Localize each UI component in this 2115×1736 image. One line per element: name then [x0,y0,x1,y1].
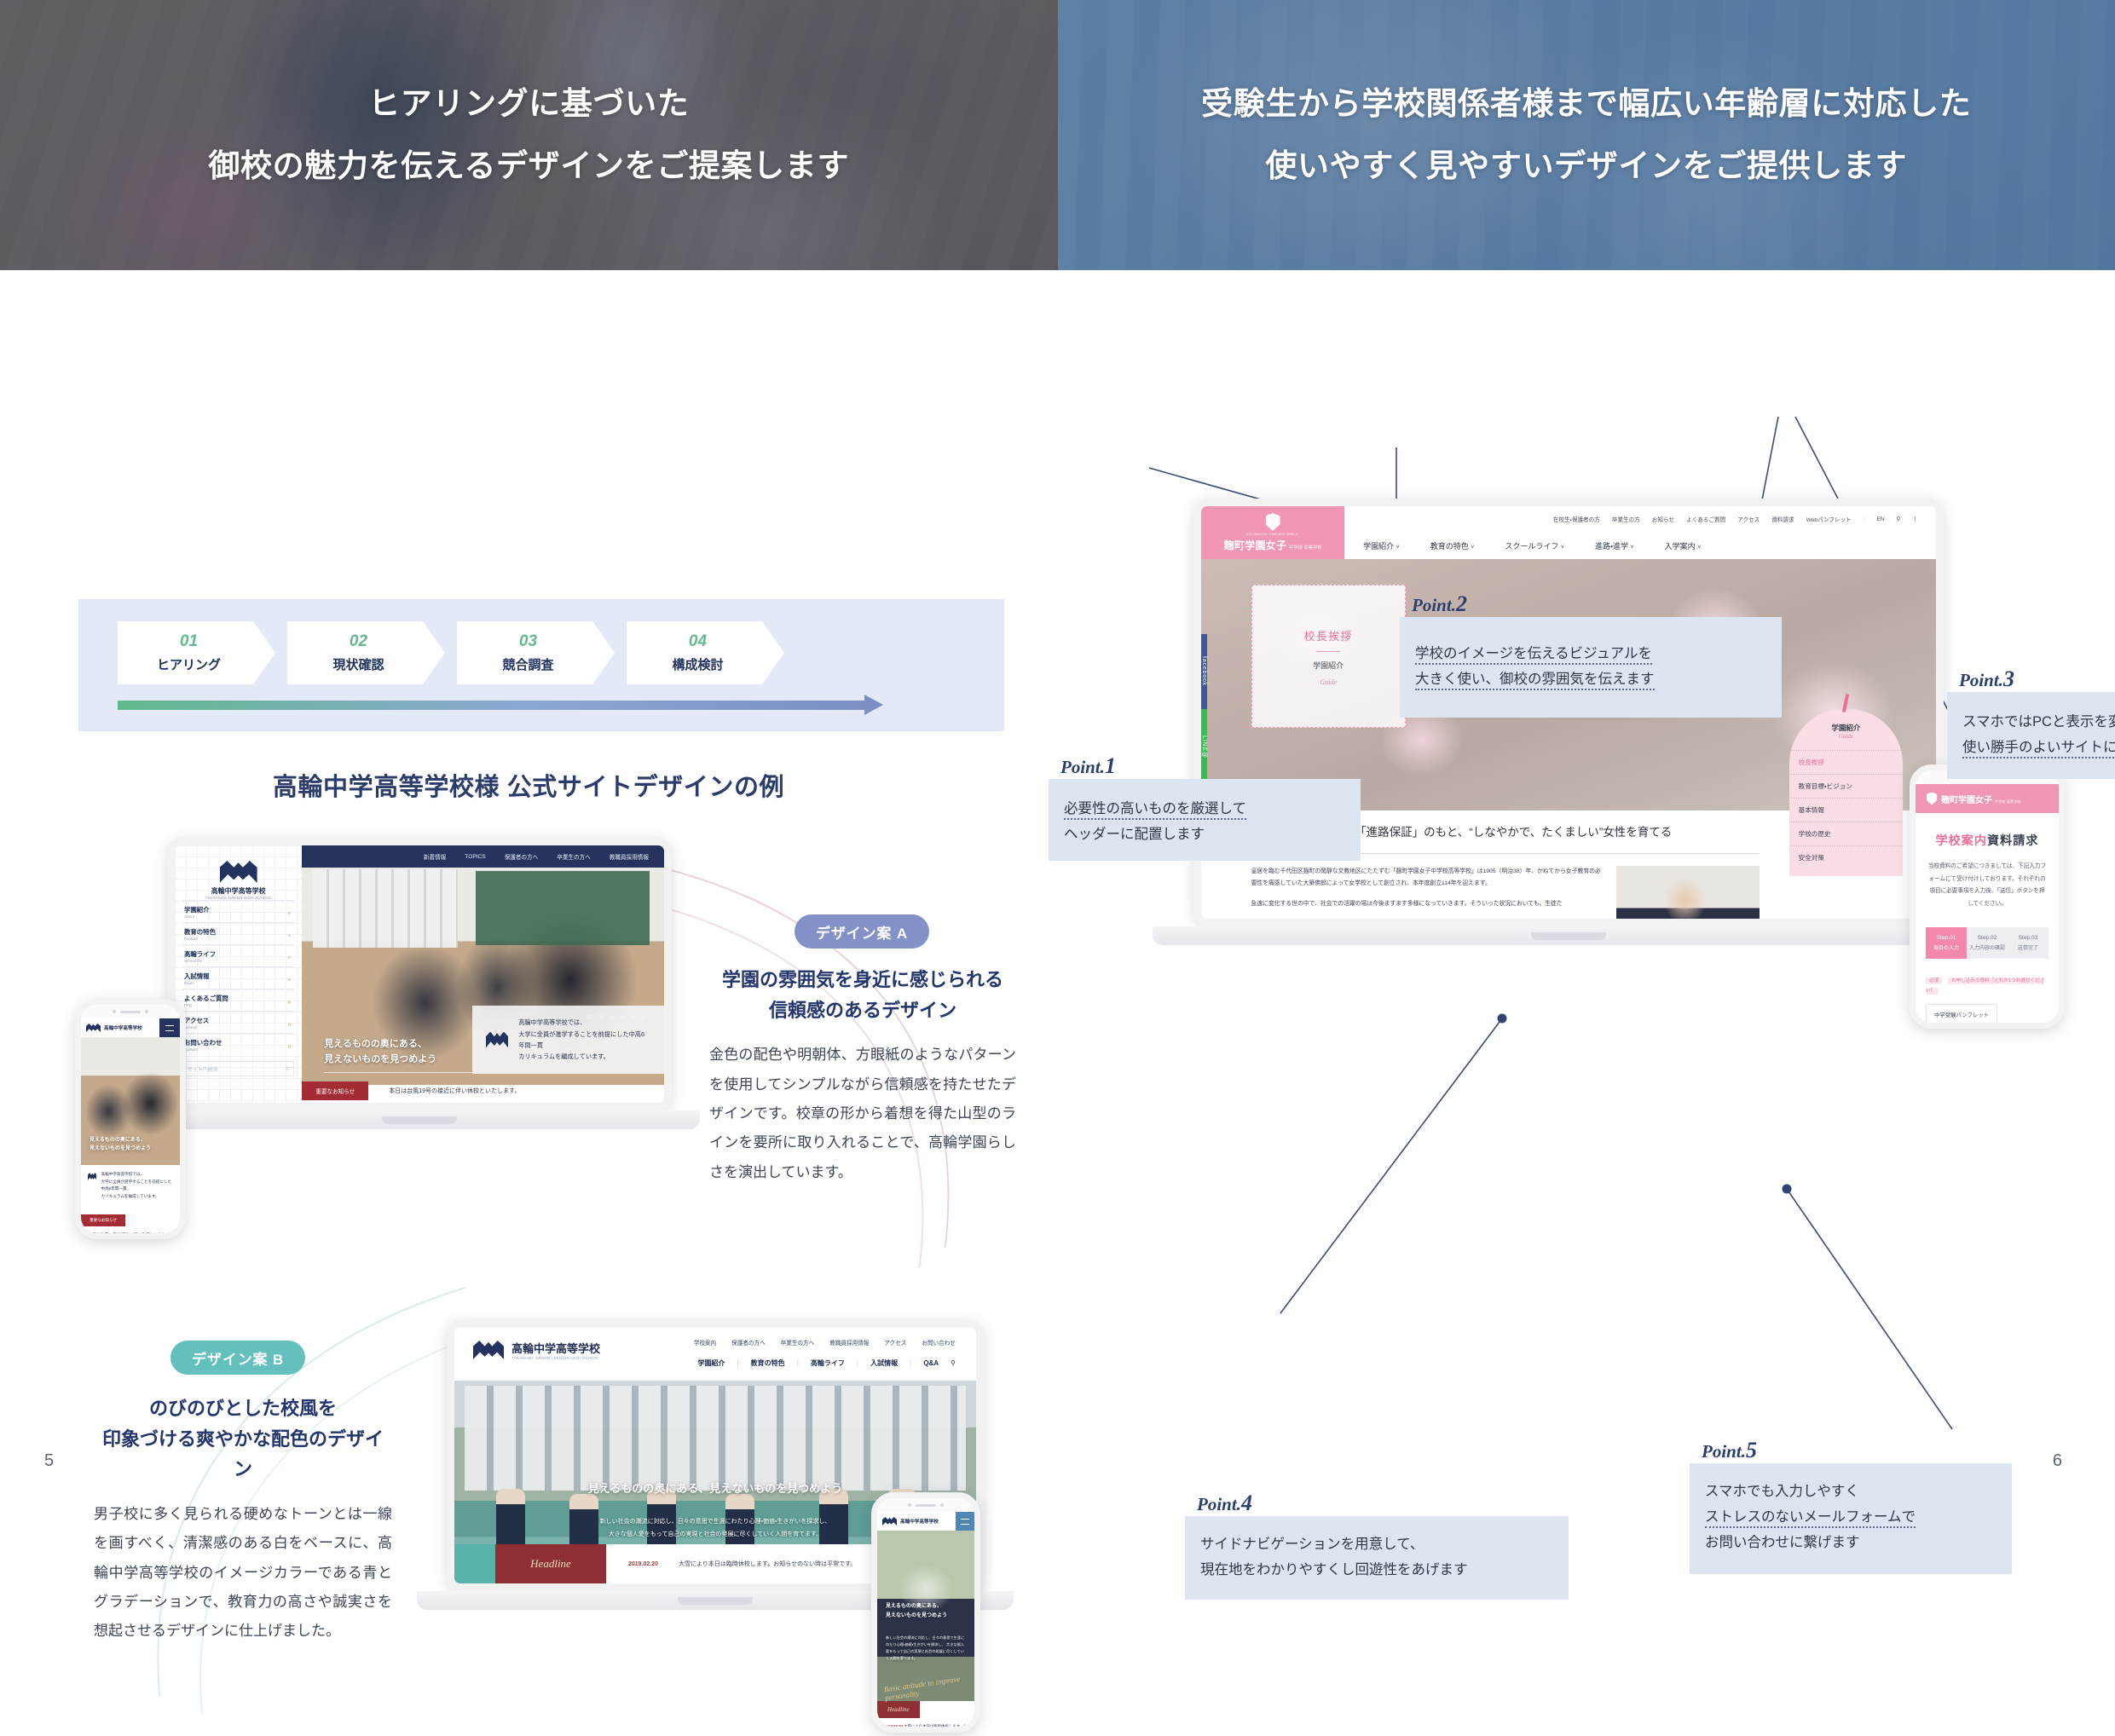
design-a-nav-item-5-jp: アクセス [184,1016,292,1025]
kojimachi-sidetag-item-3[interactable]: 学校の歴史 [1789,822,1904,845]
design-a-heading-line2: 信頼感のあるデザイン [769,1000,956,1021]
process-step-1-number: 01 [180,632,198,652]
process-step-4-number: 04 [689,632,707,652]
design-a-heading: 学園の雰囲気を身近に感じられる 信頼感のあるデザイン [709,965,1016,1025]
design-b-phone-hero-sub: 新しい社会の潮流に対応し、日々の意思で生涯にわたり心理・価値・生きがいを探求し、… [886,1635,966,1662]
design-a-phone-header: 高輪中学高等学校 [81,1018,180,1037]
kojimachi-body-text: 皇居を臨む千代田区麹町の閑静な文教地区にたたずむ「麹町学園女子中学校高等学校」は… [1251,866,1604,919]
design-a-laptop-lid: 高輪中学高等学校 TAKANAWA JUNIOR HIGH SCHOOL 学園紹… [167,838,672,1110]
design-b-phone-headline-label: Headline [877,1701,920,1718]
design-a-nav-item-1[interactable]: 教育の特色 Feature + [182,922,294,944]
process-step-1-label: ヒアリング [157,655,221,673]
kojimachi-card-script: Guide [1320,678,1337,686]
kojimachi-toplink-2[interactable]: お知らせ [1652,515,1674,523]
design-b-hero-sub2: 大きな個人愛をもって自己の実現と社会の発展に尽くしていく人間を育てます。 [609,1531,822,1537]
design-b-heading-line1: のびのびとした校風を [149,1398,337,1419]
design-a-phone-intro-text: 高輪中学高等学校では、 大学に全員が進学することを前提にした中高6年間一貫 カリ… [101,1171,173,1201]
design-a-news-text[interactable]: 本日は台風19号の接近に伴い休校といたします。 [389,1087,520,1095]
chevron-right-icon: » [287,1022,291,1028]
design-a-nav-item-6[interactable]: お問い合わせ Contact » [182,1033,294,1055]
design-a-phone-hero-text: 見えるものの奥にある、 見えないものを見つめよう [90,1136,151,1153]
hero-right-line1: 受験生から学校関係者様まで幅広い年齢層に対応した [1201,84,1971,124]
takanawa-logo-icon [473,1341,504,1359]
design-b-blurb: のびのびとした校風を 印象づける爽やかな配色のデザイン 男子校に多く見られる硬め… [94,1393,392,1647]
kojimachi-card-sub: 学園紹介 [1313,660,1344,671]
kojimachi-toplinks: 在校生・保護者の方 卒業生の方 お知らせ よくあるご質問 アクセス 資料請求 W… [1344,506,1936,532]
spread-body: 01 ヒアリング 02 現状確認 03 競合調査 04 構成検討 [0,270,2115,1495]
kojimachi-form-required-text: お申し込みの資料（どれか1つお選びください） [1926,978,2044,995]
left-page: 01 ヒアリング 02 現状確認 03 競合調査 04 構成検討 [0,270,1057,1495]
design-a-nav-item-0-jp: 学園紹介 [184,905,292,914]
design-a-topbar-link-4[interactable]: 教職員採用情報 [610,852,649,861]
design-a-nav-item-6-jp: お問い合わせ [184,1038,292,1047]
page-title: 高輪中学高等学校様 公式サイトデザインの例 [0,767,1057,803]
design-b-toplink-1[interactable]: 保護者の方へ [731,1338,766,1347]
process-step-3-number: 03 [519,632,537,652]
callout-point-3: Point.3 スマホではPCと表示を変えて 使い勝手のよいサイトに [1947,692,2115,779]
hero-banner-right: 受験生から学校関係者様まで幅広い年齢層に対応した 使いやすく見やすいデザインをご… [1058,0,2115,270]
required-badge: 必須 [1926,978,1942,984]
callout-1-line-1: 必要性の高いものを厳選して [1064,796,1345,822]
process-step-4-label: 構成検討 [672,655,723,673]
takanawa-logo-icon [882,1517,897,1525]
search-icon[interactable]: ⚲ [1897,516,1901,522]
callout-2-line-1: 学校のイメージを伝えるビジュアルを [1415,641,1766,666]
process-step-4: 04 構成検討 [627,621,784,684]
callout-1-tag: Point.1 [1060,753,1116,779]
process-arrow-head-icon [864,695,883,715]
school-building [465,1386,966,1490]
design-b-heading-line2: 印象づける爽やかな配色のデザイン [102,1428,384,1480]
chevron-right-icon: » [287,1000,291,1006]
kojimachi-toplink-5[interactable]: 資料請求 [1771,515,1794,523]
kojimachi-form-steps: Step.01 項目の入力 Step.02 入力内容の確認 Step.03 送信… [1926,927,2049,959]
search-icon[interactable]: ⚲ [951,1359,956,1367]
hero-left-line1: ヒアリングに基づいた [368,84,689,124]
kojimachi-lang-switch[interactable]: EN [1876,516,1884,522]
kojimachi-mainnav-3[interactable]: 進路・進学 ˅ [1595,540,1634,551]
design-a-search-placeholder: サイト内検索 [188,1065,218,1073]
hero-left-line2: 御校の魅力を伝えるデザインをご提案します [208,147,849,186]
callout-point-4: Point.4 サイドナビゲーションを用意して、 現在地をわかりやすくし回遊性を… [1185,1516,1569,1600]
process-step-2-number: 02 [350,632,367,652]
hamburger-menu-icon[interactable] [159,1018,180,1037]
kojimachi-principal-photo [1616,866,1760,919]
chevron-down-icon: ˅ [1561,545,1564,551]
design-b-toplink-0[interactable]: 学校案内 [694,1338,716,1347]
design-b-phone-body: 高輪中学高等学校 見えるものの奥にある、 見えないものを見つめよう 新しい社会の… [871,1492,980,1733]
process-steps-row: 01 ヒアリング 02 現状確認 03 競合調査 04 構成検討 [118,621,796,684]
design-a-hero-line2: 見えないものを見つめよう [324,1052,477,1067]
callout-4-line-1: サイドナビゲーションを用意して、 [1200,1531,1553,1557]
kojimachi-card-rule [1316,651,1340,652]
design-b-phone-hero-line2: 見えないものを見つめよう [886,1612,947,1621]
design-b-phone-headline: Headline [877,1701,974,1718]
kojimachi-mainnav-2[interactable]: スクールライフ ˅ [1505,540,1564,551]
callout-5-line-2: ストレスのないメールフォームで [1705,1504,1997,1530]
takanawa-logo-icon [220,861,257,883]
chevron-down-icon: ˅ [1631,545,1634,551]
search-icon: ⚲ [286,1066,289,1072]
design-a-school-name: 高輪中学高等学校 TAKANAWA JUNIOR HIGH SCHOOL [182,886,294,900]
design-b-mainlink-2[interactable]: 高輪ライフ [811,1358,845,1368]
design-a-nav-item-3-en: Exam [184,981,292,985]
kojimachi-social-rail: facebook LINE@ [1201,634,1216,784]
kojimachi-laptop-notch [1531,932,1606,940]
design-a-nav-item-0-en: About [184,914,292,919]
design-b-badge: デザイン案 B [170,1341,305,1375]
callout-2-line-2: 大きく使い、御校の雰囲気を伝えます [1415,666,1766,692]
kojimachi-sidetag-head: 学園紹介 Guide [1789,723,1904,740]
design-b-phone-hero-line1: 見えるものの奥にある、 [886,1602,947,1612]
right-page: KOJIMACHI GAKUEN GIRLS' 麹町学園女子中学校 高等学校 在… [1057,270,2115,1495]
design-a-hero-underline [324,1072,477,1073]
takanawa-logo-icon [486,1032,508,1048]
design-a-nav-item-5-en: Access [184,1025,292,1029]
design-a-intro-line3: カリキュラムを編成しています。 [518,1053,610,1060]
kojimachi-form-lead: 当校資料のご希望につきましては、下記入力フォームにて受け付けしております。それぞ… [1916,861,2059,910]
design-a-intro-line2: 大学に全員が進学することを前提にした中高6年間一貫 [518,1030,644,1049]
design-b-toplink-5[interactable]: お問い合わせ [922,1338,956,1347]
crest-icon [1927,793,1937,805]
kojimachi-toplink-3[interactable]: よくあるご質問 [1686,515,1725,523]
kojimachi-mainnav: 学園紹介 ˅ 教育の特色 ˅ スクールライフ ˅ 進路・進学 ˅ 入学案内 ˅ [1344,532,1936,559]
kojimachi-form: 麹町学園女子中学校 高等学校 学校案内資料請求 当校資料のご希望につきましては、… [1916,784,2059,1029]
kojimachi-brand-en: KOJIMACHI GAKUEN GIRLS' [1246,533,1299,536]
design-a-nav-item-4-en: FAQ [184,1003,292,1007]
design-a-phone-mockup: 高輪中学高等学校 見えるものの奥にある、 見えないものを見つめよう 高輪中学高等… [75,999,186,1239]
kojimachi-paragraph-2: 急速に変化する世の中で、社会での活躍の場は今後ますます多様になっていきます。そう… [1251,898,1604,910]
plus-icon: + [287,978,291,983]
design-a-blurb: 学園の雰囲気を身近に感じられる 信頼感のあるデザイン 金色の配色や明朝体、方眼紙… [709,965,1016,1187]
design-a-nav-item-3-jp: 入試情報 [184,972,292,981]
kojimachi-mainnav-1[interactable]: 教育の特色 ˅ [1430,540,1475,551]
design-b-phone-statusbar [877,1498,974,1512]
design-a-nav-item-5[interactable]: アクセス Access » [182,1011,294,1033]
callout-3-tag: Point.3 [1959,666,2014,692]
callout-5-tag: Point.5 [1702,1438,1757,1463]
kojimachi-phone-brand-jp: 麹町学園女子中学校 高等学校 [1941,793,2020,805]
design-b-headline-text[interactable]: 大雪により本日は臨時休校します。お知らせのない時は平常です。 [679,1560,856,1568]
design-a-intro-panel: 高輪中学高等学校では、 大学に全員が進学することを前提にした中高6年間一貫 カリ… [472,1006,664,1074]
crest-icon [1266,513,1280,531]
facebook-icon[interactable]: facebook [1201,634,1207,709]
design-a-topbar-link-2[interactable]: 保護者の方へ [505,852,539,861]
kojimachi-mainnav-4[interactable]: 入学案内 ˅ [1665,540,1702,551]
design-a-nav-item-0[interactable]: 学園紹介 About + [182,900,294,922]
design-a-topbar-link-3[interactable]: 卒業生の方へ [557,852,591,861]
design-a-phone-news-tag: 重要なお知らせ [81,1214,125,1226]
design-b-phone-photo: 見えるものの奥にある、 見えないものを見つめよう 新しい社会の潮流に対応し、日々… [877,1531,974,1701]
line-icon[interactable]: LINE@ [1201,709,1207,784]
design-a-nav-item-1-jp: 教育の特色 [184,927,292,937]
callout-3-line-1: スマホではPCと表示を変えて [1962,709,2115,735]
process-step-1: 01 ヒアリング [118,621,275,684]
kojimachi-form-step-3[interactable]: Step.03 送信完了 [2008,927,2049,959]
kojimachi-phone-brand: 麹町学園女子中学校 高等学校 [1916,784,2059,813]
design-a-phone-news-text[interactable]: 本日は台風19号の接近に伴い休校といたします。 [81,1226,180,1239]
design-b-toplink-2[interactable]: 卒業生の方へ [781,1338,815,1347]
kojimachi-sidetag-list: 校長挨拶 教育目標・ビジョン 基本情報 学校の歴史 安全対策 [1789,750,1904,869]
design-b-phone-mockup: 高輪中学高等学校 見えるものの奥にある、 見えないものを見つめよう 新しい社会の… [871,1492,980,1733]
kojimachi-sidetag-item-1[interactable]: 教育目標・ビジョン [1789,774,1904,798]
design-a-nav-item-2-en: School life [184,959,292,963]
design-a-topbar-link-1[interactable]: TOPICS [465,854,485,860]
design-a-laptop-mockup: 高輪中学高等学校 TAKANAWA JUNIOR HIGH SCHOOL 学園紹… [167,838,672,1110]
classroom-blackboard [476,871,650,945]
design-b-phone-hero-text: 見えるものの奥にある、 見えないものを見つめよう [886,1602,947,1621]
kojimachi-form-title-dark: 資料請求 [1987,833,2038,847]
callout-3-line-2: 使い勝手のよいサイトに [1962,735,2115,760]
kojimachi-phone-mockup: 麹町学園女子中学校 高等学校 学校案内資料請求 当校資料のご希望につきましては、… [1910,764,2065,1029]
plus-icon: + [287,955,291,961]
kojimachi-toplink-0[interactable]: 在校生・保護者の方 [1553,515,1600,523]
design-a-hero-text: 見えるものの奥にある、 見えないものを見つめよう [324,1036,477,1073]
design-a-phone-statusbar [81,1005,180,1018]
callout-point-1: Point.1 必要性の高いものを厳選して ヘッダーに配置します [1049,779,1361,861]
design-a-nav-item-2-jp: 高輪ライフ [184,949,292,959]
design-a-nav-item-4[interactable]: よくあるご質問 FAQ » [182,989,294,1011]
design-b-mainlink-3[interactable]: 入試情報 [870,1358,898,1368]
hamburger-menu-icon[interactable] [956,1512,974,1531]
hero-banner-left: ヒアリングに基づいた 御校の魅力を伝えるデザインをご提案します [0,0,1058,270]
kojimachi-form-required-row: 必須 お申し込みの資料（どれか1つお選びください） [1926,976,2049,995]
design-a-phone-school-name: 高輪中学高等学校 [104,1024,142,1031]
design-b-mainlink-1[interactable]: 教育の特色 [751,1358,785,1368]
kojimachi-form-title-pink: 学校案内 [1936,833,1987,847]
kojimachi-form-title: 学校案内資料請求 [1916,832,2059,849]
design-a-laptop-notch [382,1116,457,1124]
process-step-2: 02 現状確認 [287,621,445,684]
design-b-laptop-notch [678,1597,753,1605]
pamphlet-option-junior[interactable]: 中学受験パンフレット [1926,1004,1997,1025]
hero-left-text: ヒアリングに基づいた 御校の魅力を伝えるデザインをご提案します [0,0,1058,270]
process-step-2-label: 現状確認 [332,655,384,673]
process-step-3-label: 競合調査 [502,655,553,673]
callout-4-line-2: 現在地をわかりやすくし回遊性をあげます [1200,1557,1553,1583]
design-a-news-tag: 重要なお知らせ [302,1081,368,1100]
design-a-sidebar: 高輪中学高等学校 TAKANAWA JUNIOR HIGH SCHOOL 学園紹… [175,845,302,1103]
kojimachi-form-step-2[interactable]: Step.02 入力内容の確認 [1967,927,2008,959]
design-b-logo: 高輪中学高等学校 TAKANAWA JUNIOR / SENIOR HIGH S… [473,1340,600,1360]
design-a-intro-text: 高輪中学高等学校では、 大学に全員が進学することを前提にした中高6年間一貫 カリ… [518,1017,650,1062]
design-a-heading-line1: 学園の雰囲気を身近に感じられる [722,969,1003,990]
callout-1-line-2: ヘッダーに配置します [1064,822,1345,847]
design-b-header: 高輪中学高等学校 TAKANAWA JUNIOR / SENIOR HIGH S… [454,1328,976,1381]
design-a-phone-hero-line2: 見えないものを見つめよう [90,1145,151,1153]
page-number-right: 6 [2053,1451,2062,1471]
design-a-topbar-link-0[interactable]: 新着情報 [424,852,446,861]
classroom-window [313,869,458,948]
design-a-phone-news: 重要なお知らせ 本日は台風19号の接近に伴い休校といたします。 [81,1210,180,1239]
design-b-headline-date: 2019.02.20 [628,1561,658,1567]
design-b-school-name-en: TAKANAWA JUNIOR / SENIOR HIGH SCHOOL [511,1356,600,1360]
hero-banner-row: ヒアリングに基づいた 御校の魅力を伝えるデザインをご提案します 受験生から学校関… [0,0,2115,270]
kojimachi-mainnav-0[interactable]: 学園紹介 ˅ [1363,540,1400,551]
process-arrow [118,699,885,712]
takanawa-logo-icon [86,1024,101,1032]
kojimachi-side-navigation: 学園紹介 Guide 校長挨拶 教育目標・ビジョン 基本情報 学校の歴史 安全対… [1789,709,1904,876]
design-a-phone-intro: 高輪中学高等学校では、 大学に全員が進学することを前提にした中高6年間一貫 カリ… [81,1165,180,1207]
kojimachi-sidetag-item-2[interactable]: 基本情報 [1789,798,1904,822]
design-b-hero-sub1: 新しい社会の潮流に対応し、日々の意思で生涯にわたり心理・価値・生きがいを探求し、 [600,1519,831,1525]
design-a-phone-body: 高輪中学高等学校 見えるものの奥にある、 見えないものを見つめよう 高輪中学高等… [75,999,186,1239]
design-b-mainlink-0[interactable]: 学園紹介 [697,1358,725,1368]
callout-2-tag: Point.2 [1412,591,1467,617]
takanawa-logo-icon [88,1173,96,1180]
design-b-phone-header: 高輪中学高等学校 [877,1512,974,1531]
design-b-school-name: 高輪中学高等学校 TAKANAWA JUNIOR / SENIOR HIGH S… [511,1340,600,1360]
design-a-intro-line1: 高輪中学高等学校では、 [518,1018,586,1026]
process-step-3: 03 競合調査 [457,621,615,684]
hero-right-text: 受験生から学校関係者様まで幅広い年齢層に対応した 使いやすく見やすいデザインをご… [1058,0,2115,270]
chevron-down-icon: ˅ [1697,545,1701,551]
design-a-search-input[interactable]: サイト内検索 ⚲ [182,1061,294,1076]
kojimachi-toplink-1[interactable]: 卒業生の方 [1612,515,1640,523]
share-icon[interactable]: ❲ [1912,516,1917,522]
design-a-nav-item-4-jp: よくあるご質問 [184,994,292,1003]
callout-point-5: Point.5 スマホでも入力しやすく ストレスのないメールフォームで お問い合… [1690,1463,2012,1574]
kojimachi-sidetag-item-0[interactable]: 校長挨拶 [1789,750,1904,774]
design-b-mainlink-4[interactable]: Q&A [923,1359,939,1367]
design-a-nav-item-6-en: Contact [184,1047,292,1052]
design-b-phone-school-name: 高輪中学高等学校 [900,1518,939,1525]
process-arrow-bar [118,701,868,710]
kojimachi-hero-card: 校長挨拶 学園紹介 Guide [1251,585,1406,728]
design-a-topbar: 新着情報 TOPICS 保護者の方へ 卒業生の方へ 教職員採用情報 [302,845,664,868]
kojimachi-sidetag-item-4[interactable]: 安全対策 [1789,845,1904,869]
kojimachi-toplink-4[interactable]: アクセス [1737,515,1760,523]
kojimachi-phone-body: 麹町学園女子中学校 高等学校 学校案内資料請求 当校資料のご希望につきましては、… [1910,764,2065,1029]
design-b-body-text: 男子校に多く見られる硬めなトーンとは一線を画すべく、清潔感のある白をベースに、高… [94,1500,392,1647]
design-b-heading: のびのびとした校風を 印象づける爽やかな配色のデザイン [94,1393,392,1485]
kojimachi-sidetag-title: 学園紹介 [1789,723,1904,733]
design-a-site: 高輪中学高等学校 TAKANAWA JUNIOR HIGH SCHOOL 学園紹… [175,845,664,1103]
design-b-toplinks: 学校案内 保護者の方へ 卒業生の方へ 教職員採用情報 アクセス お問い合わせ [694,1338,956,1347]
page-number-left: 5 [44,1451,54,1471]
hero-right-line2: 使いやすく見やすいデザインをご提供します [1265,147,1907,186]
design-a-nav-item-1-en: Feature [184,937,292,941]
plus-icon: + [287,911,291,917]
chevron-down-icon: ˅ [1396,545,1400,551]
kojimachi-card-title: 校長挨拶 [1304,627,1353,643]
kojimachi-toplink-6[interactable]: Webパンフレット [1806,515,1852,523]
design-b-toplink-3[interactable]: 教職員採用情報 [829,1338,869,1347]
design-a-body-text: 金色の配色や明朝体、方眼紙のようなパターンを使用してシンプルながら信頼感を持たせ… [709,1041,1016,1187]
callout-5-line-3: お問い合わせに繋げます [1705,1530,1997,1555]
design-a-screen: 高輪中学高等学校 TAKANAWA JUNIOR HIGH SCHOOL 学園紹… [175,845,664,1103]
design-b-toplink-4[interactable]: アクセス [884,1338,906,1347]
kojimachi-paragraph-1: 皇居を臨む千代田区麹町の閑静な文教地区にたたずむ「麹町学園女子中学校高等学校」は… [1251,866,1604,891]
design-a-news-bar: 重要なお知らせ 本日は台風19号の接近に伴い休校といたします。 [302,1079,664,1103]
design-a-phone-hero-line1: 見えるものの奥にある、 [90,1136,151,1145]
design-a-main: 新着情報 TOPICS 保護者の方へ 卒業生の方へ 教職員採用情報 見える [302,845,664,1103]
callout-5-line-1: スマホでも入力しやすく [1705,1479,1997,1504]
design-a-badge: デザイン案 A [795,914,929,949]
design-a-hero-line1: 見えるものの奥にある、 [324,1036,477,1052]
chevron-down-icon: ˅ [1471,545,1474,551]
plus-icon: + [287,933,291,939]
kojimachi-brand-jp: 麹町学園女子中学校 高等学校 [1224,538,1322,552]
chevron-right-icon: » [287,1044,291,1050]
kojimachi-body-columns: 皇居を臨む千代田区麹町の閑静な文教地区にたたずむ「麹町学園女子中学校高等学校」は… [1251,866,1760,919]
kojimachi-sidetag-script: Guide [1789,733,1904,740]
design-a-nav-item-3[interactable]: 入試情報 Exam + [182,966,294,989]
design-a-phone-photo: 見えるものの奥にある、 見えないものを見つめよう [81,1037,180,1165]
design-b-phone-script: Basic attitude to improve personality [883,1673,975,1703]
kojimachi-form-options: 中学受験パンフレット 高校受験パンフレット 両方のパンフレット [1926,1004,2049,1029]
process-steps-band: 01 ヒアリング 02 現状確認 03 競合調査 04 構成検討 [78,599,1004,731]
design-b-headline-label: Headline [495,1544,606,1583]
design-b-mainlinks: 学園紹介| 教育の特色| 高輪ライフ| 入試情報| Q&A ⚲ [697,1358,956,1368]
design-b-phone-headline-text[interactable]: 2019.02.20 大雪により本日は臨時休校します。お知らせのない時は平常です… [877,1718,974,1733]
design-a-nav-item-2[interactable]: 高輪ライフ School life + [182,944,294,966]
callout-point-2: Point.2 学校のイメージを伝えるビジュアルを 大きく使い、御校の雰囲気を伝… [1400,617,1782,718]
kojimachi-brand: KOJIMACHI GAKUEN GIRLS' 麹町学園女子中学校 高等学校 [1201,506,1344,559]
design-b-headline-accent [454,1544,495,1583]
kojimachi-form-step-1[interactable]: Step.01 項目の入力 [1926,927,1967,959]
